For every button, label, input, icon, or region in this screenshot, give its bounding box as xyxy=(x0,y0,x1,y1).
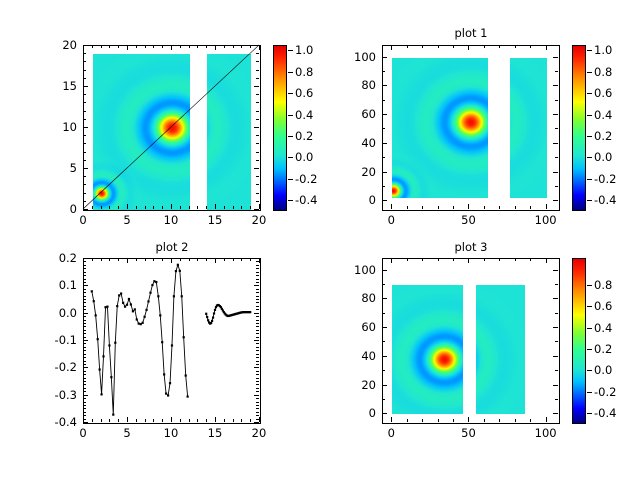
x-minor-tick xyxy=(153,206,154,209)
x-minor-tick-top xyxy=(484,45,485,48)
data-point-marker xyxy=(116,305,118,307)
x-tick-label: 5 xyxy=(105,213,149,227)
y-minor-tick xyxy=(83,419,86,420)
y-minor-tick-right xyxy=(256,323,259,324)
x-minor-tick-top xyxy=(224,45,225,48)
y-minor-tick-right xyxy=(256,374,259,375)
x-minor-tick-top xyxy=(180,45,181,48)
y-tick-label: 0 xyxy=(332,406,376,420)
x-minor-tick xyxy=(530,419,531,422)
x-major-tick-top xyxy=(468,258,469,263)
x-minor-tick xyxy=(136,206,137,209)
y-minor-tick xyxy=(83,330,86,331)
x-tick-label: 20 xyxy=(237,426,281,440)
data-point-marker xyxy=(104,306,106,308)
colorbar-tick xyxy=(587,306,592,307)
y-major-tick-right xyxy=(254,258,259,259)
x-minor-tick xyxy=(145,419,146,422)
y-major-tick xyxy=(382,298,387,299)
x-minor-tick xyxy=(92,419,93,422)
y-major-tick xyxy=(382,172,387,173)
y-minor-tick-right xyxy=(256,419,259,420)
colorbar-tick xyxy=(288,50,293,51)
y-major-tick-right xyxy=(254,285,259,286)
x-minor-tick xyxy=(233,206,234,209)
data-point-marker xyxy=(175,270,177,272)
y-minor-tick xyxy=(83,152,86,153)
colorbar-tick xyxy=(288,93,293,94)
y-minor-tick xyxy=(83,306,86,307)
x-tick-label: 10 xyxy=(149,426,193,440)
x-major-tick-top xyxy=(215,45,216,50)
x-minor-tick-top xyxy=(515,45,516,48)
y-minor-tick xyxy=(83,361,86,362)
y-minor-tick-right xyxy=(256,292,259,293)
x-major-tick xyxy=(171,204,172,209)
x-minor-tick xyxy=(250,419,251,422)
data-point-marker xyxy=(91,290,93,292)
y-minor-tick-right xyxy=(256,302,259,303)
y-minor-tick xyxy=(83,326,86,327)
y-major-tick-right xyxy=(553,356,558,357)
y-minor-tick xyxy=(83,296,86,297)
x-minor-tick xyxy=(101,419,102,422)
x-major-tick-top xyxy=(215,258,216,263)
x-minor-tick-top xyxy=(153,258,154,261)
data-point-marker xyxy=(171,344,173,346)
data-point-marker xyxy=(120,292,122,294)
x-tick-label: 15 xyxy=(193,426,237,440)
colorbar-tick xyxy=(587,136,592,137)
y-minor-tick-right xyxy=(256,272,259,273)
x-minor-tick-top xyxy=(453,258,454,261)
y-major-tick-right xyxy=(254,367,259,368)
y-minor-tick xyxy=(83,412,86,413)
y-tick-label: 20 xyxy=(332,165,376,179)
x-minor-tick-top xyxy=(241,258,242,261)
x-major-tick xyxy=(215,204,216,209)
y-minor-tick-right xyxy=(256,371,259,372)
y-minor-tick xyxy=(83,371,86,372)
x-major-tick-top xyxy=(546,258,547,263)
y-minor-tick xyxy=(83,201,86,202)
x-minor-tick xyxy=(241,206,242,209)
y-minor-tick-right xyxy=(256,102,259,103)
data-point-marker xyxy=(183,336,185,338)
subplot-top-right: plot 1 050100020406080100 -0.4-0.20.00.2… xyxy=(320,0,640,240)
x-minor-tick-top xyxy=(136,45,137,48)
y-minor-tick-right xyxy=(256,152,259,153)
y-major-tick-right xyxy=(254,86,259,87)
data-point-marker xyxy=(106,306,108,308)
y-minor-tick-right xyxy=(256,61,259,62)
data-point-marker xyxy=(177,264,179,266)
data-point-marker xyxy=(161,341,163,343)
y-minor-tick xyxy=(83,402,86,403)
y-major-tick-right xyxy=(553,270,558,271)
y-minor-tick-right xyxy=(256,320,259,321)
y-minor-tick-right xyxy=(256,309,259,310)
x-major-tick xyxy=(259,204,260,209)
y-minor-tick-right xyxy=(256,306,259,307)
y-minor-tick-right xyxy=(256,275,259,276)
y-minor-tick-right xyxy=(256,357,259,358)
x-minor-tick-top xyxy=(180,258,181,261)
y-minor-tick-right xyxy=(256,70,259,71)
data-point-marker xyxy=(140,323,142,325)
data-point-marker xyxy=(138,323,140,325)
y-tick-label: 100 xyxy=(332,263,376,277)
x-minor-tick xyxy=(422,206,423,209)
y-minor-tick-right xyxy=(256,296,259,297)
y-minor-tick-right xyxy=(256,408,259,409)
y-minor-tick xyxy=(83,302,86,303)
y-minor-tick-right xyxy=(555,100,558,101)
x-minor-tick-top xyxy=(92,45,93,48)
y-major-tick-right xyxy=(254,45,259,46)
y-major-tick xyxy=(83,313,88,314)
data-point-marker xyxy=(124,306,126,308)
y-minor-tick xyxy=(83,364,86,365)
y-major-tick xyxy=(83,285,88,286)
y-minor-tick xyxy=(83,61,86,62)
colorbar-tick xyxy=(587,200,592,201)
x-minor-tick-top xyxy=(407,45,408,48)
colorbar-tick-label: -0.2 xyxy=(594,172,634,186)
y-minor-tick-right xyxy=(256,347,259,348)
data-point-marker xyxy=(128,298,130,300)
x-minor-tick xyxy=(180,206,181,209)
y-tick-label: 60 xyxy=(332,320,376,334)
data-point-marker xyxy=(187,395,189,397)
x-major-tick-top xyxy=(171,45,172,50)
data-point-marker xyxy=(110,376,112,378)
plot0-colorbar[interactable] xyxy=(273,45,287,211)
colorbar-tick xyxy=(288,157,293,158)
y-minor-tick xyxy=(83,384,86,385)
y-minor-tick xyxy=(83,282,86,283)
x-minor-tick xyxy=(250,206,251,209)
x-major-tick xyxy=(391,204,392,209)
data-point-marker xyxy=(165,392,167,394)
x-major-tick-top xyxy=(127,258,128,263)
y-minor-tick xyxy=(382,341,385,342)
y-tick-label: 0 xyxy=(332,193,376,207)
y-minor-tick-right xyxy=(256,53,259,54)
y-minor-tick xyxy=(83,135,86,136)
data-point-marker xyxy=(151,284,153,286)
x-major-tick-top xyxy=(391,258,392,263)
data-point-marker xyxy=(93,300,95,302)
data-point-marker xyxy=(149,292,151,294)
y-minor-tick xyxy=(83,347,86,348)
y-minor-tick-right xyxy=(555,71,558,72)
y-tick-label: -0.1 xyxy=(33,333,77,347)
x-minor-tick-top xyxy=(241,45,242,48)
image-patch xyxy=(476,285,525,414)
y-minor-tick xyxy=(382,313,385,314)
x-major-tick-top xyxy=(468,45,469,50)
y-minor-tick-right xyxy=(256,261,259,262)
y-minor-tick-right xyxy=(256,316,259,317)
y-tick-label: 100 xyxy=(332,50,376,64)
y-minor-tick-right xyxy=(256,111,259,112)
y-major-tick xyxy=(382,57,387,58)
x-minor-tick xyxy=(453,206,454,209)
y-minor-tick-right xyxy=(256,412,259,413)
y-tick-label: 10 xyxy=(33,120,77,134)
x-minor-tick xyxy=(162,206,163,209)
x-minor-tick xyxy=(484,206,485,209)
y-minor-tick xyxy=(382,100,385,101)
y-minor-tick xyxy=(382,157,385,158)
colorbar-tick-label: 0.2 xyxy=(594,342,634,356)
x-minor-tick-top xyxy=(499,45,500,48)
y-minor-tick-right xyxy=(555,186,558,187)
colorbar-tick xyxy=(587,115,592,116)
x-major-tick xyxy=(171,417,172,422)
y-major-tick xyxy=(83,209,88,210)
y-major-tick-right xyxy=(553,327,558,328)
plot1-title: plot 1 xyxy=(382,26,560,40)
y-major-tick xyxy=(382,200,387,201)
x-minor-tick-top xyxy=(145,45,146,48)
y-minor-tick-right xyxy=(256,289,259,290)
y-minor-tick-right xyxy=(256,333,259,334)
y-major-tick xyxy=(382,143,387,144)
x-minor-tick-top xyxy=(250,258,251,261)
diagonal-overlay-line xyxy=(83,45,259,209)
x-minor-tick xyxy=(118,419,119,422)
colorbar-tick-label: 0.0 xyxy=(594,150,634,164)
plot3-colorbar[interactable] xyxy=(572,258,586,424)
x-minor-tick-top xyxy=(109,258,110,261)
y-tick-label: 0.1 xyxy=(33,278,77,292)
y-minor-tick xyxy=(382,284,385,285)
colorbar-tick-label: -0.4 xyxy=(594,193,634,207)
y-minor-tick xyxy=(83,268,86,269)
x-minor-tick xyxy=(515,419,516,422)
x-minor-tick-top xyxy=(515,258,516,261)
x-minor-tick-top xyxy=(422,45,423,48)
x-minor-tick-top xyxy=(145,258,146,261)
x-major-tick xyxy=(546,417,547,422)
colorbar-tick-label: 0.4 xyxy=(594,108,634,122)
x-minor-tick-top xyxy=(422,258,423,261)
subplot-top-left: 0510152005101520 -0.4-0.20.00.20.40.60.8… xyxy=(0,0,320,240)
y-minor-tick-right xyxy=(555,313,558,314)
y-minor-tick-right xyxy=(256,299,259,300)
y-major-tick-right xyxy=(553,114,558,115)
x-minor-tick-top xyxy=(206,258,207,261)
y-minor-tick-right xyxy=(256,265,259,266)
image-patch xyxy=(510,58,547,199)
x-major-tick-top xyxy=(259,258,260,263)
y-tick-label: -0.3 xyxy=(33,388,77,402)
data-point-marker xyxy=(142,322,144,324)
x-tick-label: 0 xyxy=(369,426,413,440)
y-minor-tick xyxy=(83,354,86,355)
y-minor-tick-right xyxy=(256,176,259,177)
y-major-tick xyxy=(382,356,387,357)
y-minor-tick-right xyxy=(256,94,259,95)
colorbar-tick xyxy=(288,179,293,180)
y-minor-tick-right xyxy=(256,361,259,362)
data-point-marker xyxy=(214,309,216,311)
y-major-tick-right xyxy=(254,395,259,396)
x-minor-tick xyxy=(438,206,439,209)
y-major-tick-right xyxy=(553,413,558,414)
y-major-tick xyxy=(382,270,387,271)
image-patch xyxy=(392,285,463,414)
colorbar-tick-label: 1.0 xyxy=(594,43,634,57)
x-minor-tick-top xyxy=(153,45,154,48)
y-minor-tick-right xyxy=(256,378,259,379)
y-minor-tick-right xyxy=(256,184,259,185)
data-point-marker xyxy=(134,308,136,310)
x-minor-tick-top xyxy=(101,45,102,48)
data-point-marker xyxy=(112,414,114,416)
y-major-tick xyxy=(382,385,387,386)
x-minor-tick-top xyxy=(438,258,439,261)
colorbar-tick xyxy=(587,93,592,94)
data-point-marker xyxy=(167,394,169,396)
y-tick-label: 80 xyxy=(332,291,376,305)
y-minor-tick xyxy=(83,70,86,71)
data-point-marker xyxy=(147,300,149,302)
y-minor-tick xyxy=(382,186,385,187)
y-minor-tick xyxy=(382,370,385,371)
subplot-bottom-right: plot 3 050100020406080100 -0.4-0.20.00.2… xyxy=(320,240,640,480)
x-minor-tick xyxy=(136,419,137,422)
plot1-axes[interactable] xyxy=(382,45,560,211)
x-minor-tick xyxy=(189,206,190,209)
x-minor-tick-top xyxy=(92,258,93,261)
y-major-tick xyxy=(382,327,387,328)
y-minor-tick-right xyxy=(555,284,558,285)
y-major-tick xyxy=(83,127,88,128)
data-point-marker xyxy=(163,373,165,375)
colorbar-tick-label: -0.2 xyxy=(594,385,634,399)
y-minor-tick-right xyxy=(256,398,259,399)
subplot-bottom-left: plot 2 05101520-0.4-0.3-0.2-0.10.00.10.2 xyxy=(0,240,320,480)
colorbar-tick-label: 0.8 xyxy=(594,278,634,292)
x-minor-tick-top xyxy=(109,45,110,48)
data-point-marker xyxy=(114,342,116,344)
y-minor-tick-right xyxy=(555,341,558,342)
y-minor-tick-right xyxy=(256,326,259,327)
x-minor-tick-top xyxy=(101,258,102,261)
y-minor-tick-right xyxy=(256,279,259,280)
data-point-marker xyxy=(136,318,138,320)
y-major-tick-right xyxy=(254,168,259,169)
y-major-tick-right xyxy=(553,298,558,299)
x-major-tick xyxy=(127,204,128,209)
y-major-tick-right xyxy=(553,85,558,86)
y-minor-tick xyxy=(83,102,86,103)
plot3-axes[interactable] xyxy=(382,258,560,424)
colorbar-tick-label: 0.6 xyxy=(594,299,634,313)
x-minor-tick xyxy=(145,206,146,209)
x-minor-tick xyxy=(189,419,190,422)
y-major-tick xyxy=(83,340,88,341)
x-minor-tick xyxy=(197,206,198,209)
y-minor-tick-right xyxy=(256,405,259,406)
x-minor-tick xyxy=(206,206,207,209)
y-major-tick xyxy=(83,45,88,46)
y-minor-tick-right xyxy=(256,78,259,79)
y-minor-tick-right xyxy=(256,415,259,416)
data-point-marker xyxy=(97,338,99,340)
x-minor-tick-top xyxy=(233,258,234,261)
y-minor-tick xyxy=(83,398,86,399)
y-major-tick xyxy=(382,114,387,115)
x-minor-tick xyxy=(224,206,225,209)
y-major-tick xyxy=(83,168,88,169)
x-tick-label: 20 xyxy=(237,213,281,227)
y-tick-label: 20 xyxy=(33,38,77,52)
y-minor-tick xyxy=(83,78,86,79)
data-point-marker xyxy=(155,281,157,283)
y-tick-label: 0.2 xyxy=(33,251,77,265)
y-minor-tick xyxy=(83,405,86,406)
y-tick-label: 40 xyxy=(332,136,376,150)
y-minor-tick xyxy=(83,143,86,144)
y-minor-tick-right xyxy=(256,391,259,392)
data-point-marker xyxy=(206,316,208,318)
x-tick-label: 50 xyxy=(446,213,490,227)
y-minor-tick xyxy=(83,289,86,290)
data-point-marker xyxy=(169,382,171,384)
x-minor-tick-top xyxy=(438,45,439,48)
data-point-marker xyxy=(144,316,146,318)
x-minor-tick-top xyxy=(250,45,251,48)
y-minor-tick-right xyxy=(256,135,259,136)
y-minor-tick xyxy=(83,193,86,194)
x-minor-tick xyxy=(241,419,242,422)
data-point-marker xyxy=(130,303,132,305)
data-point-marker xyxy=(207,319,209,321)
y-minor-tick xyxy=(83,176,86,177)
y-minor-tick xyxy=(83,350,86,351)
x-major-tick-top xyxy=(391,45,392,50)
colorbar-tick-label: -0.4 xyxy=(594,406,634,420)
x-minor-tick xyxy=(206,419,207,422)
plot3-title: plot 3 xyxy=(382,240,560,254)
plot1-colorbar[interactable] xyxy=(572,45,586,211)
x-minor-tick-top xyxy=(407,258,408,261)
x-minor-tick xyxy=(438,419,439,422)
x-minor-tick-top xyxy=(530,45,531,48)
y-minor-tick-right xyxy=(555,399,558,400)
x-major-tick xyxy=(468,204,469,209)
y-major-tick xyxy=(382,85,387,86)
data-point-marker xyxy=(122,302,124,304)
data-point-marker xyxy=(210,322,212,324)
y-tick-label: 20 xyxy=(332,378,376,392)
y-minor-tick xyxy=(83,265,86,266)
y-minor-tick-right xyxy=(555,157,558,158)
data-point-marker xyxy=(126,304,128,306)
y-tick-label: 15 xyxy=(33,79,77,93)
y-major-tick-right xyxy=(553,385,558,386)
y-major-tick-right xyxy=(254,127,259,128)
y-minor-tick-right xyxy=(256,337,259,338)
colorbar-tick xyxy=(587,370,592,371)
x-tick-label: 100 xyxy=(524,213,568,227)
y-tick-label: 0.0 xyxy=(33,306,77,320)
y-minor-tick xyxy=(83,378,86,379)
